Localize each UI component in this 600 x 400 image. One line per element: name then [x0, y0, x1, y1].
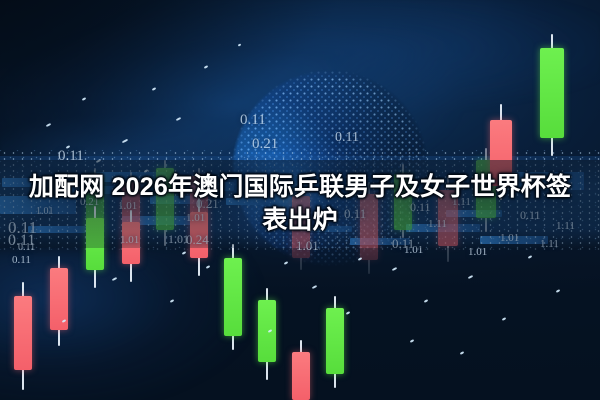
candlestick-body	[326, 308, 344, 374]
candlestick-bearish	[14, 282, 32, 390]
candlestick-body	[292, 352, 310, 400]
candlestick-bullish	[326, 296, 344, 388]
headline: 加配网 2026年澳门国际乒联男子及女子世界杯签 表出炉	[0, 160, 600, 248]
candlestick-body	[540, 48, 564, 138]
candlestick-bullish	[224, 244, 242, 350]
candlestick-bearish	[292, 340, 310, 400]
candlestick-bullish	[540, 34, 564, 156]
hero-image: 0.110.111.011.010.210.110.210.111.010.11…	[0, 0, 600, 400]
candlestick-body	[224, 258, 242, 336]
candlestick-bullish	[258, 288, 276, 380]
candlestick-body	[14, 296, 32, 370]
candlestick-bearish	[50, 256, 68, 346]
headline-line-1: 加配网 2026年澳门国际乒联男子及女子世界杯签	[29, 172, 571, 203]
headline-line-2: 表出炉	[262, 205, 338, 236]
